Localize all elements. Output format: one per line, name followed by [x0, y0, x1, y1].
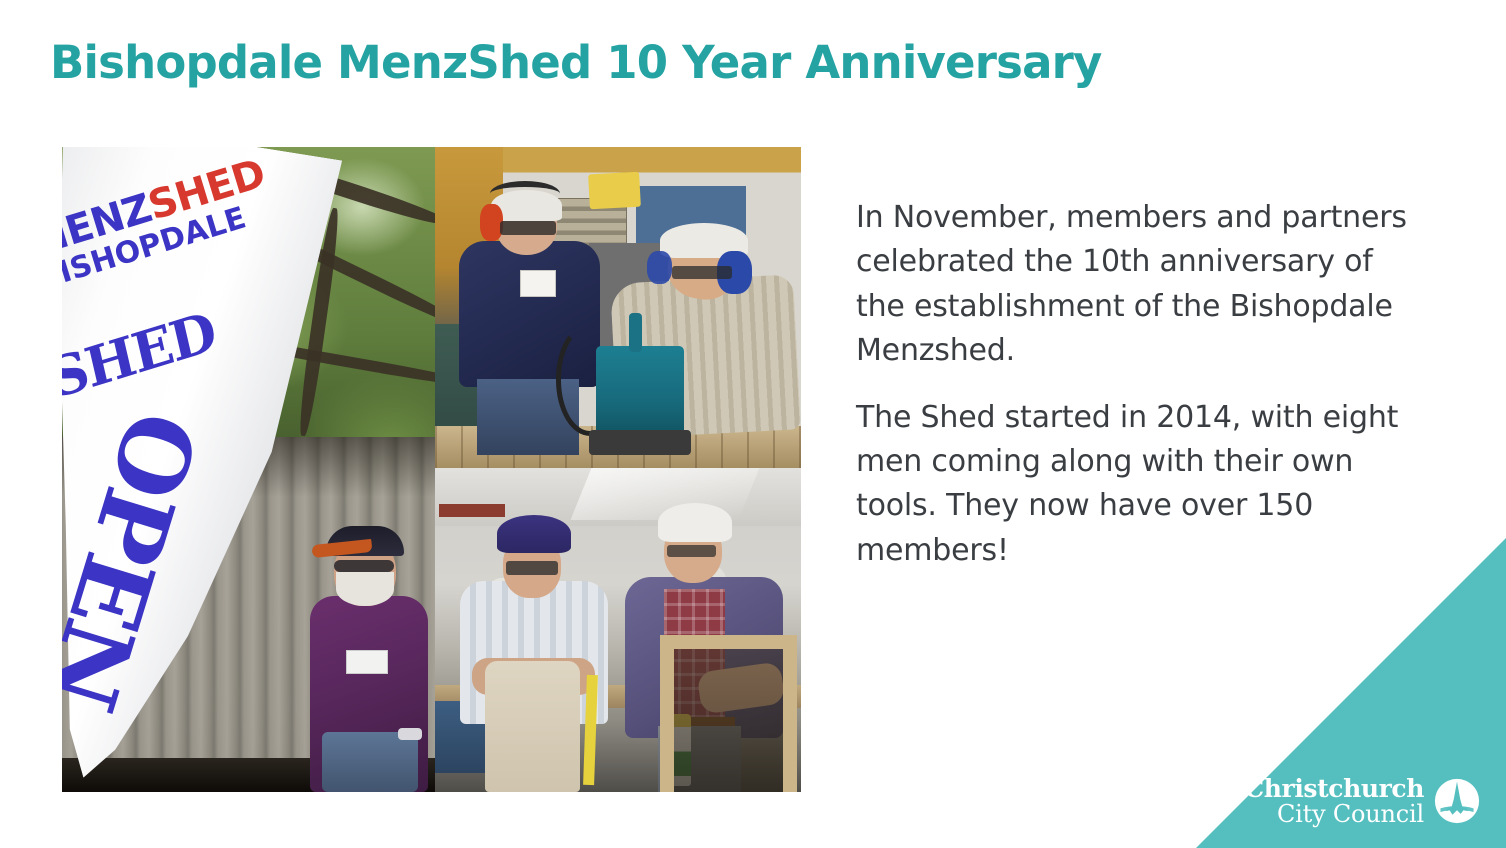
- workshop-conversation-photo: [435, 468, 801, 792]
- glasses: [506, 561, 558, 575]
- wristwatch: [398, 728, 422, 740]
- body-text: In November, members and partners celebr…: [856, 196, 1416, 573]
- cathedral-roundel-icon: [1434, 778, 1480, 824]
- name-badge: [346, 650, 388, 674]
- glasses: [667, 545, 715, 557]
- beard: [336, 572, 394, 606]
- name-badge: [520, 270, 556, 297]
- christchurch-city-council-logo: Christchurch City Council: [1244, 776, 1480, 826]
- router-base: [589, 430, 691, 456]
- logo-line-1: Christchurch: [1244, 776, 1424, 802]
- member-holding-banner: [300, 492, 435, 792]
- glasses: [672, 266, 733, 279]
- plunge-router-tool: [596, 346, 684, 442]
- page-title: Bishopdale MenzShed 10 Year Anniversary: [50, 38, 1150, 88]
- logo-line-2: City Council: [1244, 802, 1424, 826]
- paragraph-2: The Shed started in 2014, with eight men…: [856, 396, 1416, 574]
- jeans: [322, 732, 418, 792]
- glasses: [500, 221, 555, 235]
- sunglasses: [334, 560, 394, 572]
- cap: [326, 526, 404, 556]
- paragraph-1: In November, members and partners celebr…: [856, 196, 1416, 374]
- logo-wordmark: Christchurch City Council: [1244, 776, 1424, 826]
- ear-defender-band: [490, 181, 561, 207]
- menzshed-open-banner-photo: MENZSHED BISHOPDALE SHED OPEN: [62, 147, 435, 792]
- canvas-apron: [485, 661, 580, 792]
- blue-beanie: [497, 515, 571, 552]
- photo-collage: MENZSHED BISHOPDALE SHED OPEN: [62, 147, 801, 792]
- slide-canvas: Bishopdale MenzShed 10 Year Anniversary: [0, 0, 1506, 848]
- blue-ear-defender: [647, 251, 672, 284]
- workshop-router-photo: [435, 147, 801, 468]
- white-hair: [658, 503, 732, 542]
- timber-frame-project: [660, 635, 798, 792]
